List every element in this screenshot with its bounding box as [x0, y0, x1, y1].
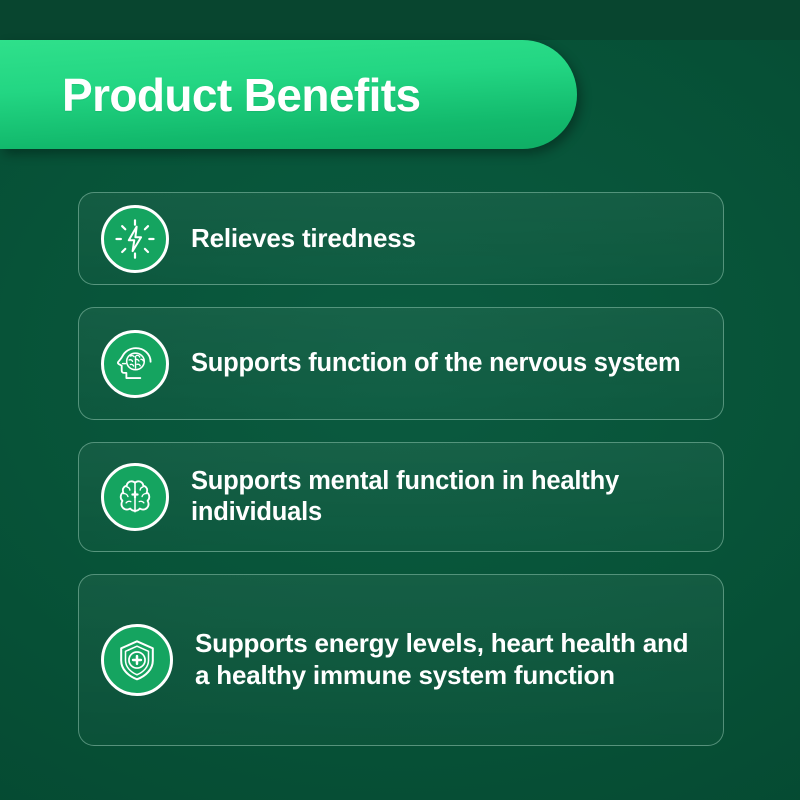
- list-item: Supports function of the nervous system: [78, 307, 724, 420]
- list-item: Relieves tiredness: [78, 192, 724, 285]
- brain-plus-mental-function-icon: [101, 463, 169, 531]
- list-item: Supports mental function in healthy indi…: [78, 442, 724, 552]
- benefits-list: Relieves tiredness Suppor: [78, 192, 724, 746]
- head-brain-nervous-system-icon: [101, 330, 169, 398]
- product-benefits-graphic: Product Benefits Relieves tiredness: [0, 0, 800, 800]
- page-title: Product Benefits: [62, 40, 420, 149]
- list-item: Supports energy levels, heart health and…: [78, 574, 724, 746]
- shield-plus-immune-icon: [101, 624, 173, 696]
- list-item-label: Supports function of the nervous system: [191, 348, 681, 379]
- list-item-label: Supports energy levels, heart health and…: [195, 628, 703, 692]
- list-item-label: Supports mental function in healthy indi…: [191, 466, 703, 529]
- header-banner: Product Benefits: [0, 40, 577, 149]
- top-background-strip: [0, 0, 800, 40]
- energy-bolt-icon: [101, 205, 169, 273]
- list-item-label: Relieves tiredness: [191, 223, 416, 255]
